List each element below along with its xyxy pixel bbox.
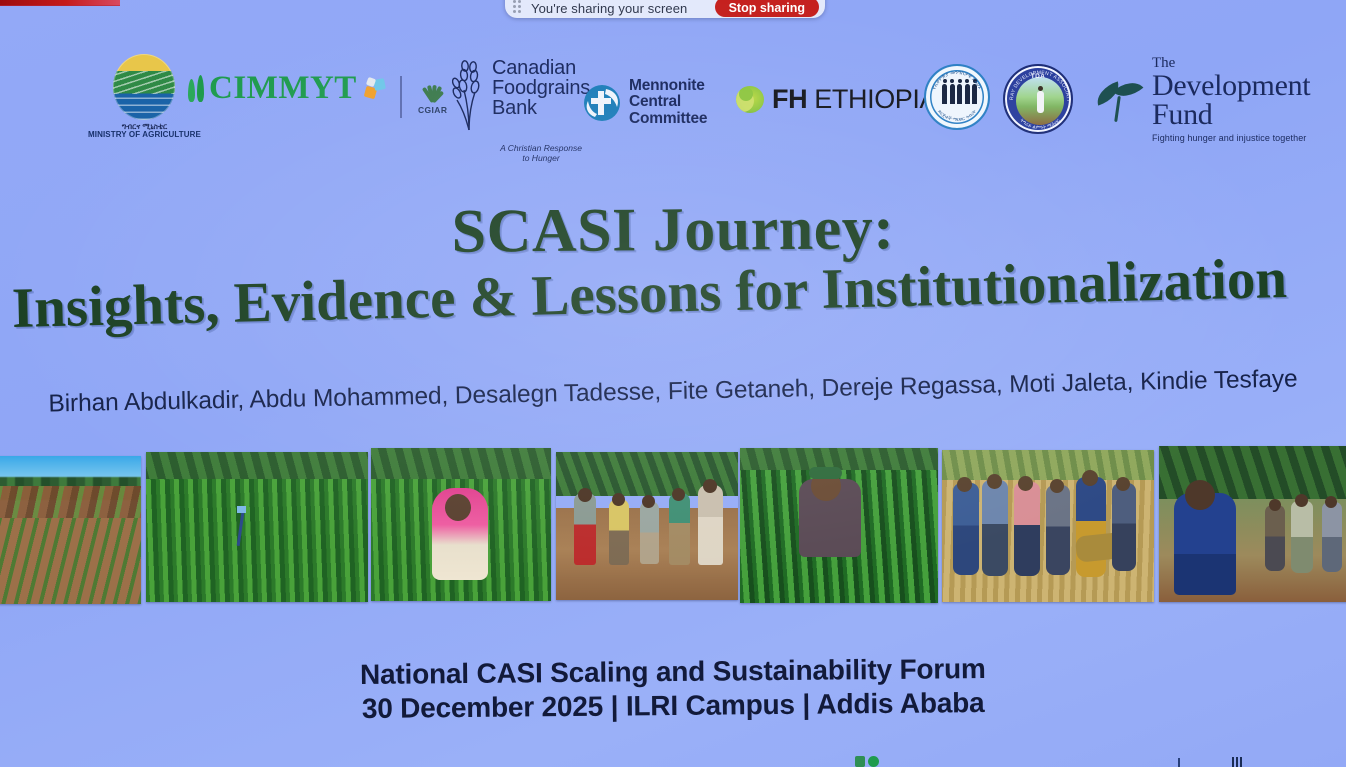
screen-share-message: You're sharing your screen xyxy=(531,1,707,16)
event-footer: National CASI Scaling and Sustainability… xyxy=(0,649,1346,730)
screen-share-banner[interactable]: You're sharing your screen Stop sharing xyxy=(505,0,825,18)
development-fund-wordmark: The Development Fund Fighting hunger and… xyxy=(1152,56,1310,143)
ministry-of-agriculture-icon xyxy=(113,54,175,120)
logo-cimmyt: CIMMYT xyxy=(188,72,387,105)
photo-farmer-field-day xyxy=(942,450,1154,602)
df-line1: Development xyxy=(1152,71,1310,100)
cgiar-wheat-icon xyxy=(420,78,446,104)
partner-logo-row: ግብርና ሚኒስቴር MINISTRY OF AGRICULTURE CIMMY… xyxy=(0,32,1346,140)
logo-fh-ethiopia: FH ETHIOPIA xyxy=(736,86,937,113)
ministry-of-agriculture-caption: ግብርና ሚኒስቴር MINISTRY OF AGRICULTURE xyxy=(88,123,201,139)
screen-share-border xyxy=(0,0,120,6)
presentation-slide: You're sharing your screen Stop sharing … xyxy=(0,0,1346,767)
cimmyt-wordmark: CIMMYT xyxy=(209,72,357,105)
cfb-tagline-2: to Hunger xyxy=(492,154,590,164)
mcc-line3: Committee xyxy=(629,111,707,127)
moa-label-english: MINISTRY OF AGRICULTURE xyxy=(88,131,201,139)
cimmyt-leaf-icon xyxy=(188,75,204,102)
tda-seal-icon: TDA TIGRAY DEVELOPMENT ASSOCIATION ትግራይ … xyxy=(1003,64,1073,134)
fh-ethiopia-wordmark: FH ETHIOPIA xyxy=(772,86,937,113)
cimmyt-emblem-icon xyxy=(365,77,387,101)
cfb-line2: Foodgrains xyxy=(492,78,590,98)
photo-crop-rows-field xyxy=(0,456,141,604)
drag-handle-icon[interactable] xyxy=(513,0,523,14)
fh-light: ETHIOPIA xyxy=(807,84,937,114)
photo-strip xyxy=(0,440,1346,605)
cfb-line1: Canadian xyxy=(492,58,590,78)
logo-tigray-development-association: TDA TIGRAY DEVELOPMENT ASSOCIATION ትግራይ … xyxy=(1003,64,1073,134)
slide-title-block: SCASI Journey: Insights, Evidence & Less… xyxy=(0,195,1346,341)
df-line2: Fund xyxy=(1152,100,1310,129)
logo-cgiar: CGIAR xyxy=(418,78,447,115)
wheat-sheaf-icon xyxy=(452,60,486,134)
photo-facilitator-presenting xyxy=(1159,446,1346,602)
author-list: Birhan Abdulkadir, Abdu Mohammed, Desale… xyxy=(0,364,1346,419)
logo-the-development-fund: The Development Fund Fighting hunger and… xyxy=(1095,56,1310,143)
photo-woman-kneeling-legumes xyxy=(740,448,938,603)
svg-text:ትግራይ ልምዓት ማሕበር: ትግራይ ልምዓት ማሕበር xyxy=(1019,118,1062,132)
leaf-sprout-icon xyxy=(1095,72,1143,126)
next-slide-peek xyxy=(0,751,1346,767)
ngo-seal-icon: የኢትዮጵያ መንግስታዊ ያልሆኑ ድርጅቶች ማህበር ኅብረት xyxy=(924,64,990,130)
cfb-line3: Bank xyxy=(492,98,590,118)
photo-lush-maize-field xyxy=(146,452,368,602)
photo-women-group-field xyxy=(556,452,738,600)
df-tagline: Fighting hunger and injustice together xyxy=(1152,134,1310,143)
mcc-wordmark: Mennonite Central Committee xyxy=(629,78,707,127)
mcc-line2: Central xyxy=(629,94,707,110)
logo-ethiopian-ngo-seal: የኢትዮጵያ መንግስታዊ ያልሆኑ ድርጅቶች ማህበር ኅብረት xyxy=(924,64,990,130)
logo-divider xyxy=(400,76,402,118)
mcc-dove-cross-icon xyxy=(582,83,622,123)
fh-globe-icon xyxy=(736,86,764,113)
fh-bold: FH xyxy=(772,84,807,114)
stop-sharing-button[interactable]: Stop sharing xyxy=(715,0,819,17)
logo-canadian-foodgrains-bank: Canadian Foodgrains Bank A Christian Res… xyxy=(452,56,590,164)
logo-mennonite-central-committee: Mennonite Central Committee xyxy=(582,78,707,127)
canadian-foodgrains-bank-text: Canadian Foodgrains Bank A Christian Res… xyxy=(492,56,590,164)
photo-woman-pink-headscarf xyxy=(371,448,551,601)
logo-ministry-of-agriculture: ግብርና ሚኒስቴር MINISTRY OF AGRICULTURE xyxy=(88,54,201,139)
mcc-line1: Mennonite xyxy=(629,78,707,94)
svg-text:ድርጅቶች ማህበር ኅብረት: ድርጅቶች ማህበር ኅብረት xyxy=(936,108,978,123)
svg-text:የኢትዮጵያ መንግስታዊ ያልሆኑ: የኢትዮጵያ መንግስታዊ ያልሆኑ xyxy=(931,70,982,91)
cgiar-wordmark: CGIAR xyxy=(418,105,447,115)
svg-text:TIGRAY DEVELOPMENT ASSOCIATION: TIGRAY DEVELOPMENT ASSOCIATION xyxy=(1005,66,1071,101)
